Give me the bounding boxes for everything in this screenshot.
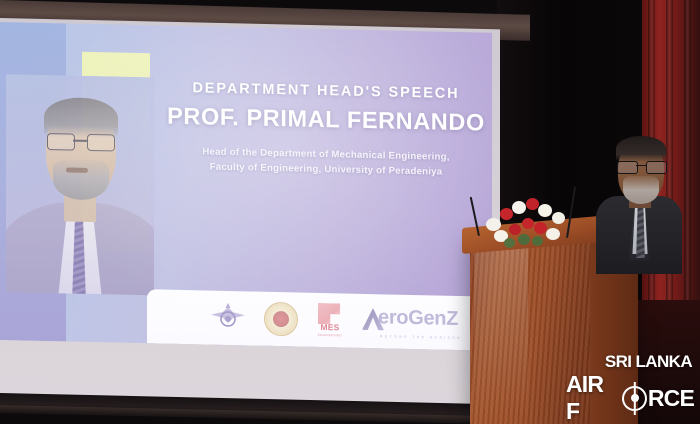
aerogenz-tagline: BEYOND THE HORIZON [380, 334, 462, 340]
aerogenz-logo-icon: eroGenZ BEYOND THE HORIZON [362, 304, 480, 341]
mes-logo-icon: MES ENGINEERING [315, 303, 345, 338]
university-of-peradeniya-seal-icon [264, 302, 298, 337]
presentation-photo: DEPARTMENT HEAD'S SPEECH PROF. PRIMAL FE… [0, 0, 700, 424]
portrait-glasses-icon [47, 133, 115, 150]
speaker-portrait-photo [6, 74, 154, 295]
projected-slide: DEPARTMENT HEAD'S SPEECH PROF. PRIMAL FE… [0, 22, 492, 351]
speaker-at-podium [596, 136, 682, 266]
slide-logo-band: MES ENGINEERING eroGenZ BEYOND THE HORIZ… [147, 289, 492, 351]
podium-highlight [474, 246, 528, 418]
mes-logo-sub: ENGINEERING [315, 333, 345, 338]
floral-arrangement [476, 196, 586, 248]
slide-text-block: DEPARTMENT HEAD'S SPEECH PROF. PRIMAL FE… [165, 80, 487, 182]
slide-subtitle: Head of the Department of Mechanical Eng… [165, 145, 487, 182]
air-force-roundel-icon [622, 386, 647, 411]
sri-lanka-air-force-emblem-icon [209, 300, 247, 336]
slide-headline: PROF. PRIMAL FERNANDO [165, 103, 487, 137]
watermark-rce-text: RCE [648, 385, 694, 412]
mes-logo-label: MES [315, 322, 345, 333]
speaker-glasses-icon [617, 161, 665, 173]
watermark-line-1: SRI LANKA [605, 352, 692, 372]
watermark-line-2: AIR F RCE [566, 371, 694, 424]
aerogenz-logo-label: eroGenZ [378, 306, 458, 331]
slide-kicker: DEPARTMENT HEAD'S SPEECH [165, 80, 487, 103]
watermark-airf-text: AIR F [566, 371, 621, 424]
broadcast-watermark: SRI LANKA AIR F RCE [566, 352, 696, 408]
